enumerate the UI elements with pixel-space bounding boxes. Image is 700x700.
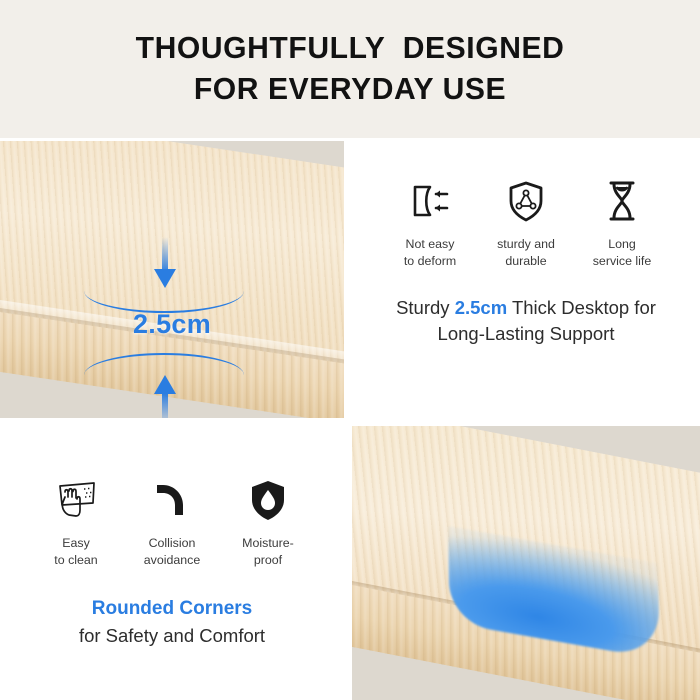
thickness-measurement-label: 2.5cm <box>0 309 344 340</box>
safety-icon-row: Easy to clean Collision avoidance Moistu… <box>0 474 344 568</box>
safety-caption-line-2: for Safety and Comfort <box>22 623 322 649</box>
header-banner: THOUGHTFULLY DESIGNED FOR EVERYDAY USE <box>0 0 700 138</box>
desk-edge-photo: 2.5cm <box>0 141 344 418</box>
hand-wipe-icon <box>52 474 100 526</box>
feature-label: Easy to clean <box>54 535 97 568</box>
durability-icon-row: Not easy to deform sturdy and durable <box>352 175 700 269</box>
measure-arrow-down-stem <box>162 237 168 273</box>
header-title-line-1: THOUGHTFULLY DESIGNED <box>136 28 565 69</box>
header-title-line-2: FOR EVERYDAY USE <box>194 69 506 110</box>
rounded-corner-icon <box>149 474 195 526</box>
feature-not-easy-to-deform: Not easy to deform <box>382 175 478 269</box>
feature-label: Collision avoidance <box>144 535 201 568</box>
measure-arrow-down-head <box>154 269 176 288</box>
feature-moisture-proof: Moisture- proof <box>220 474 316 568</box>
measure-arrow-up-stem <box>162 393 168 418</box>
durability-feature-panel: Not easy to deform sturdy and durable <box>352 141 700 418</box>
feature-label: sturdy and durable <box>497 236 555 269</box>
feature-sturdy-and-durable: sturdy and durable <box>478 175 574 269</box>
caption-highlight: 2.5cm <box>455 297 507 318</box>
safety-feature-panel: Easy to clean Collision avoidance Moistu… <box>0 426 344 700</box>
caption-before: Sturdy <box>396 297 455 318</box>
thickness-photo-panel: 2.5cm <box>0 141 344 418</box>
deform-resistance-icon <box>407 175 453 227</box>
shield-droplet-icon <box>245 474 291 526</box>
rounded-corner-photo <box>352 426 700 700</box>
rounded-corner-photo-panel <box>352 426 700 700</box>
safety-caption-line-1: Rounded Corners <box>22 596 322 623</box>
safety-caption: Rounded Corners for Safety and Comfort <box>0 596 344 649</box>
hourglass-icon <box>599 175 645 227</box>
durability-caption: Sturdy 2.5cm Thick Desktop for Long-Last… <box>352 295 700 348</box>
shield-molecule-icon <box>503 175 549 227</box>
feature-long-service-life: Long service life <box>574 175 670 269</box>
feature-label: Long service life <box>593 236 652 269</box>
feature-label: Moisture- proof <box>242 535 294 568</box>
feature-collision-avoidance: Collision avoidance <box>124 474 220 568</box>
measure-arrow-up-head <box>154 375 176 394</box>
feature-label: Not easy to deform <box>404 236 456 269</box>
feature-easy-to-clean: Easy to clean <box>28 474 124 568</box>
